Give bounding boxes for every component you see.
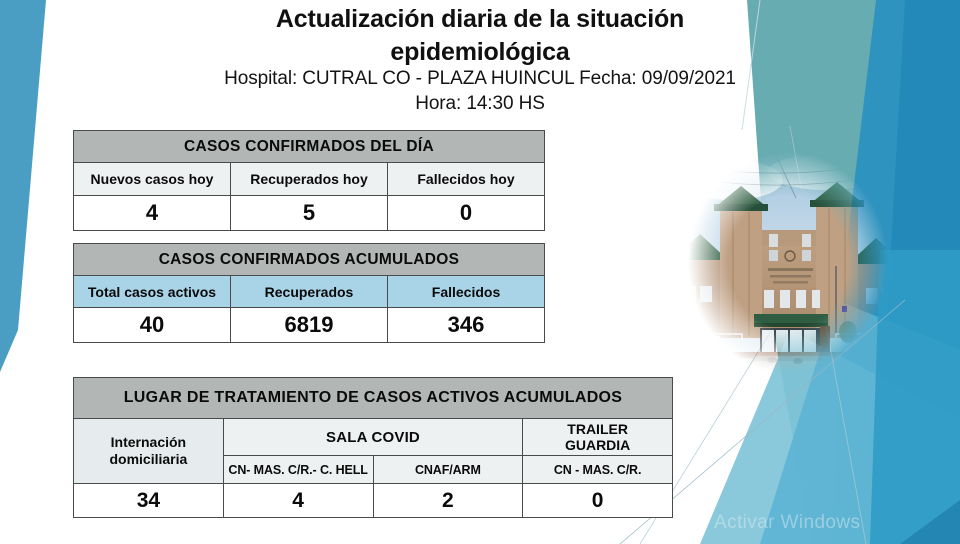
treatment-subheader-cn-mas-cr: CN - MAS. C/R. <box>523 456 673 484</box>
hospital-photo <box>676 138 900 386</box>
daily-header-deaths: Fallecidos hoy <box>388 163 545 196</box>
cumulative-value-recovered: 6819 <box>231 308 388 343</box>
table-row: 4 5 0 <box>74 196 545 231</box>
treatment-subheader-cnaf-arm: CNAF/ARM <box>373 456 523 484</box>
trailer-label-line2: GUARDIA <box>523 437 672 453</box>
daily-header-new: Nuevos casos hoy <box>74 163 231 196</box>
header-block: Actualización diaria de la situación epi… <box>0 0 960 116</box>
page-title-line1: Actualización diaria de la situación <box>0 0 960 33</box>
hospital-date-line: Hospital: CUTRAL CO - PLAZA HUINCUL Fech… <box>0 66 960 91</box>
daily-value-recovered: 5 <box>231 196 388 231</box>
table-row: 34 4 2 0 <box>74 484 673 518</box>
table-row: CASOS CONFIRMADOS ACUMULADOS <box>74 244 545 276</box>
table-row: Total casos activos Recuperados Fallecid… <box>74 276 545 308</box>
table-treatment-location: LUGAR DE TRATAMIENTO DE CASOS ACTIVOS AC… <box>73 377 673 518</box>
daily-banner: CASOS CONFIRMADOS DEL DÍA <box>74 131 545 163</box>
table-daily-cases: CASOS CONFIRMADOS DEL DÍA Nuevos casos h… <box>73 130 545 231</box>
cumulative-header-deaths: Fallecidos <box>388 276 545 308</box>
table-row: Internación domiciliaria SALA COVID TRAI… <box>74 419 673 456</box>
time-line: Hora: 14:30 HS <box>0 91 960 116</box>
treatment-banner: LUGAR DE TRATAMIENTO DE CASOS ACTIVOS AC… <box>74 378 673 419</box>
cumulative-banner: CASOS CONFIRMADOS ACUMULADOS <box>74 244 545 276</box>
table-row: 40 6819 346 <box>74 308 545 343</box>
treatment-subheader-cn-mas-hell: CN- MAS. C/R.- C. HELL <box>223 456 373 484</box>
table-row: CASOS CONFIRMADOS DEL DÍA <box>74 131 545 163</box>
daily-header-recovered: Recuperados hoy <box>231 163 388 196</box>
hospital-photo-illustration <box>676 138 900 386</box>
treatment-header-home: Internación domiciliaria <box>74 419 224 484</box>
treatment-group-sala-covid: SALA COVID <box>223 419 523 456</box>
trailer-label-line1: TRAILER <box>523 421 672 437</box>
cumulative-value-deaths: 346 <box>388 308 545 343</box>
hospital-photo-mask <box>676 138 900 386</box>
treatment-group-trailer: TRAILER GUARDIA <box>523 419 673 456</box>
page-title-line2: epidemiológica <box>0 33 960 66</box>
treatment-value-home: 34 <box>74 484 224 518</box>
table-cumulative-cases: CASOS CONFIRMADOS ACUMULADOS Total casos… <box>73 243 545 343</box>
cumulative-header-recovered: Recuperados <box>231 276 388 308</box>
treatment-value-cnaf-arm: 2 <box>373 484 523 518</box>
table-row: LUGAR DE TRATAMIENTO DE CASOS ACTIVOS AC… <box>74 378 673 419</box>
treatment-value-cn-mas-hell: 4 <box>223 484 373 518</box>
daily-value-deaths: 0 <box>388 196 545 231</box>
table-row: Nuevos casos hoy Recuperados hoy Falleci… <box>74 163 545 196</box>
daily-value-new: 4 <box>74 196 231 231</box>
cumulative-value-active: 40 <box>74 308 231 343</box>
treatment-value-trailer: 0 <box>523 484 673 518</box>
slide-canvas: Actualización diaria de la situación epi… <box>0 0 960 544</box>
cumulative-header-active: Total casos activos <box>74 276 231 308</box>
